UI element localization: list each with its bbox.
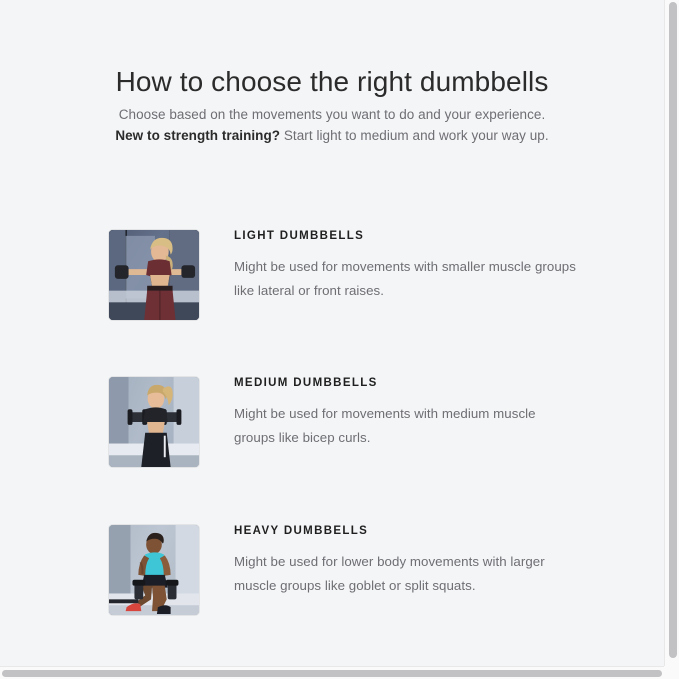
list-item: HEAVY DUMBBELLS Might be used for lower …: [108, 524, 578, 618]
vertical-scrollbar-thumb[interactable]: [669, 2, 677, 658]
intro-line-2-rest: Start light to medium and work your way …: [280, 128, 549, 143]
horizontal-scrollbar-thumb[interactable]: [2, 670, 662, 677]
item-description: Might be used for movements with smaller…: [234, 242, 578, 303]
medium-dumbbells-thumbnail[interactable]: [108, 376, 200, 468]
item-description: Might be used for movements with medium …: [234, 389, 578, 450]
intro-lead-question: New to strength training?: [115, 128, 280, 143]
item-title: HEAVY DUMBBELLS: [234, 524, 578, 537]
vertical-scrollbar[interactable]: [664, 0, 679, 666]
light-dumbbells-thumbnail[interactable]: [108, 229, 200, 321]
intro-line-1: Choose based on the movements you want t…: [0, 104, 664, 125]
heavy-dumbbells-thumbnail[interactable]: [108, 524, 200, 616]
item-title: LIGHT DUMBBELLS: [234, 229, 578, 242]
heavy-dumbbells-text: HEAVY DUMBBELLS Might be used for lower …: [234, 524, 578, 598]
light-dumbbells-text: LIGHT DUMBBELLS Might be used for moveme…: [234, 229, 578, 303]
scrollbar-corner: [664, 666, 679, 679]
intro-line-2: New to strength training? Start light to…: [0, 125, 664, 146]
page-title: How to choose the right dumbbells: [0, 66, 664, 98]
medium-dumbbells-text: MEDIUM DUMBBELLS Might be used for movem…: [234, 376, 578, 450]
content-pane: How to choose the right dumbbells Choose…: [0, 0, 664, 666]
list-item: LIGHT DUMBBELLS Might be used for moveme…: [108, 229, 578, 323]
list-item: MEDIUM DUMBBELLS Might be used for movem…: [108, 376, 578, 470]
item-title: MEDIUM DUMBBELLS: [234, 376, 578, 389]
item-description: Might be used for lower body movements w…: [234, 537, 578, 598]
page-viewport: How to choose the right dumbbells Choose…: [0, 0, 679, 679]
horizontal-scrollbar[interactable]: [0, 666, 679, 679]
intro-paragraph: Choose based on the movements you want t…: [0, 104, 664, 146]
